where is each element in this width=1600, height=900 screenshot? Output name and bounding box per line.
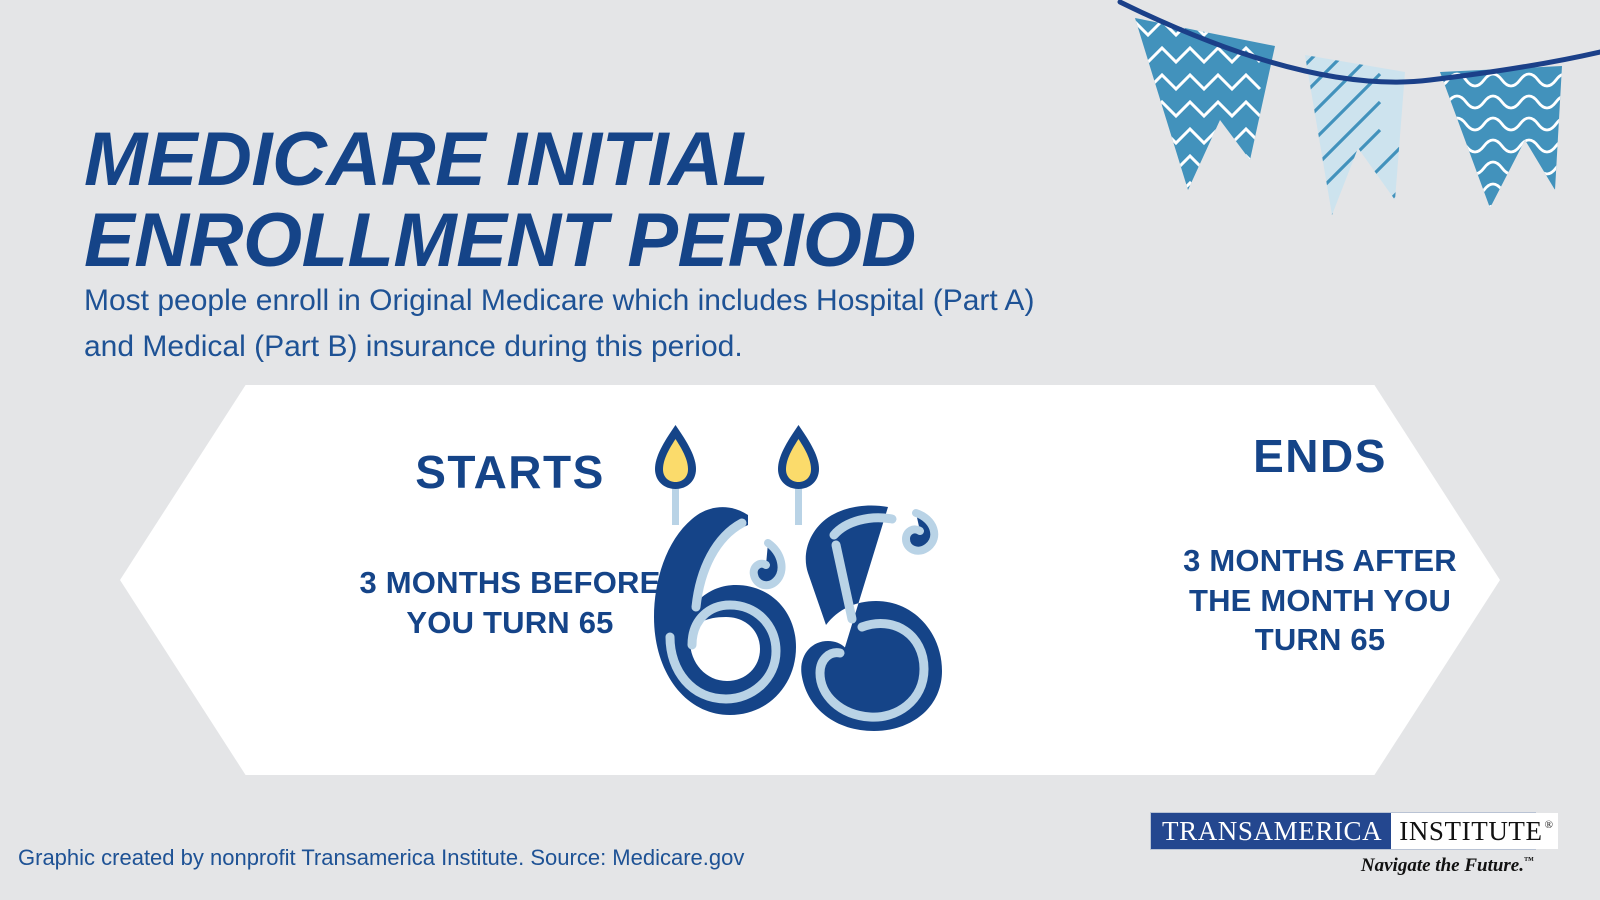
page-title-line-1: MEDICARE INITIAL [84, 119, 1134, 200]
page-subtitle: Most people enroll in Original Medicare … [84, 278, 1264, 369]
starts-heading: STARTS [415, 449, 605, 495]
ends-body-line-2: THE MONTH YOU [1183, 581, 1457, 621]
page-title-line-2: ENROLLMENT PERIOD [84, 200, 1134, 281]
logo-tagline-text: Navigate the Future. [1361, 855, 1524, 876]
ends-column: ENDS 3 MONTHS AFTER THE MONTH YOU TURN 6… [1110, 385, 1530, 775]
logo-institute-text: INSTITUTE [1399, 818, 1542, 845]
footer-credit: Graphic created by nonprofit Transameric… [18, 845, 744, 871]
starts-body-line-2: YOU TURN 65 [360, 603, 661, 643]
ends-body: 3 MONTHS AFTER THE MONTH YOU TURN 65 [1183, 541, 1457, 660]
ends-body-line-3: TURN 65 [1183, 620, 1457, 660]
ends-body-line-1: 3 MONTHS AFTER [1183, 541, 1457, 581]
digit-five [801, 506, 942, 732]
logo-bar: TRANSAMERICA INSTITUTE ® [1150, 812, 1536, 850]
pennant-zigzag [1120, 18, 1275, 197]
party-bunting [1100, 0, 1600, 250]
logo-tagline: Navigate the Future.™ [1150, 855, 1536, 877]
logo-word-transamerica: TRANSAMERICA [1151, 813, 1391, 849]
starts-body: 3 MONTHS BEFORE YOU TURN 65 [360, 563, 661, 642]
candle-right [778, 425, 819, 525]
trademark-mark-icon: ™ [1524, 856, 1534, 867]
page-title: MEDICARE INITIAL ENROLLMENT PERIOD [84, 119, 1134, 282]
bunting-string [1120, 2, 1600, 82]
logo-word-institute: INSTITUTE ® [1391, 813, 1557, 849]
page-subtitle-line-1: Most people enroll in Original Medicare … [84, 278, 1264, 324]
birthday-candles-65-icon [630, 395, 970, 740]
digit-six [654, 507, 796, 715]
page-subtitle-line-2: and Medical (Part B) insurance during th… [84, 324, 1264, 370]
pennant-waves [1430, 66, 1574, 218]
starts-body-line-1: 3 MONTHS BEFORE [360, 563, 661, 603]
ends-heading: ENDS [1253, 433, 1387, 479]
candle-left [655, 425, 696, 525]
pennant-diagonal-stripes [1250, 0, 1440, 250]
infographic-canvas: MEDICARE INITIAL ENROLLMENT PERIOD Most … [0, 0, 1600, 900]
registered-mark-icon: ® [1545, 820, 1554, 831]
transamerica-institute-logo: TRANSAMERICA INSTITUTE ® Navigate the Fu… [1150, 812, 1536, 877]
